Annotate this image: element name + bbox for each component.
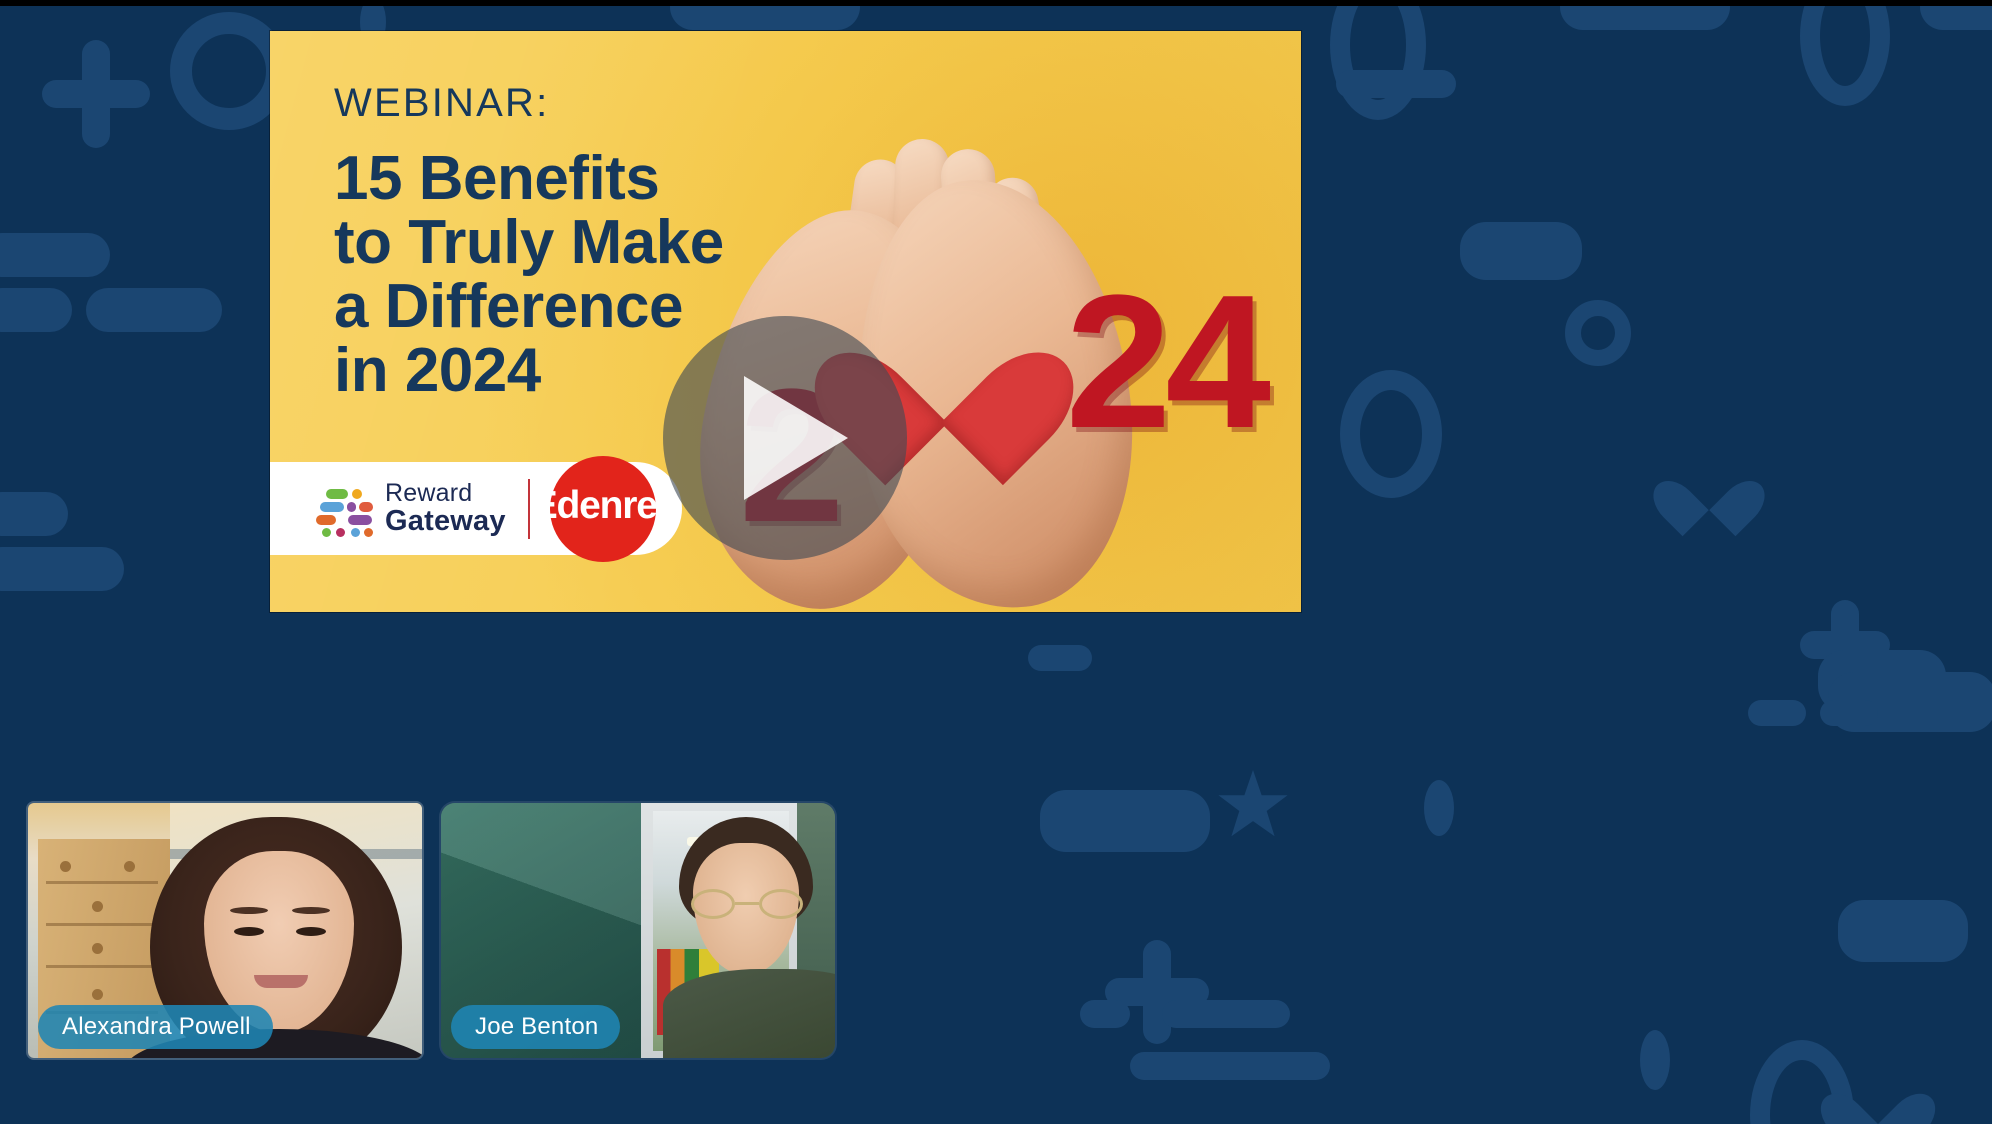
ring-decoration — [1750, 1040, 1854, 1124]
year-number-24: 24 — [1066, 267, 1265, 457]
reward-gateway-wordmark: Reward Gateway — [385, 481, 506, 536]
bar-decoration — [0, 288, 72, 332]
webinar-page: 24 2 WEBINAR: 15 Benefits to Truly Make … — [0, 0, 1992, 1124]
slide-eyebrow: WEBINAR: — [334, 83, 724, 123]
logo-divider — [528, 479, 530, 539]
oval-decoration — [1424, 780, 1454, 836]
bar-decoration — [1818, 650, 1946, 712]
bar-decoration — [0, 233, 110, 277]
bar-decoration — [1820, 700, 1878, 726]
star-decoration — [1217, 770, 1289, 842]
plus-decoration — [1105, 940, 1209, 1044]
participant-mouth — [254, 975, 308, 988]
bar-decoration — [86, 288, 222, 332]
heart-decoration — [1672, 456, 1746, 524]
bar-decoration — [1080, 1000, 1130, 1028]
heart-decoration — [1840, 1068, 1916, 1124]
plus-decoration — [1800, 600, 1890, 690]
ring-decoration — [1565, 300, 1631, 366]
bar-decoration — [1028, 645, 1092, 671]
oval-decoration — [1640, 1030, 1670, 1090]
bar-decoration — [1162, 1000, 1290, 1028]
slide-headline: 15 Benefits to Truly Make a Difference i… — [334, 147, 724, 402]
bar-decoration — [1460, 222, 1582, 280]
slide-text-block: WEBINAR: 15 Benefits to Truly Make a Dif… — [334, 83, 724, 402]
ring-decoration — [1340, 370, 1442, 498]
sponsor-logo-band: Reward Gateway Edenred — [270, 462, 682, 555]
reward-gateway-line-1: Reward — [385, 481, 506, 506]
top-letterbox-bar — [0, 0, 1992, 6]
ring-decoration — [1330, 0, 1426, 120]
headline-line-1: 15 Benefits — [334, 147, 724, 211]
reward-gateway-line-2: Gateway — [385, 507, 506, 536]
headline-line-4: in 2024 — [334, 339, 724, 403]
participant-name-badge: Joe Benton — [451, 1005, 620, 1049]
headline-line-3: a Difference — [334, 275, 724, 339]
play-button[interactable] — [663, 316, 907, 560]
bar-decoration — [1748, 700, 1806, 726]
participant-shirt — [663, 969, 835, 1058]
bar-decoration — [0, 492, 68, 536]
reward-gateway-mark-icon — [316, 487, 372, 531]
headline-line-2: to Truly Make — [334, 211, 724, 275]
participant-name-badge: Alexandra Powell — [38, 1005, 273, 1049]
edenred-logo: Edenred — [550, 456, 656, 562]
bar-decoration — [1838, 900, 1968, 962]
bar-decoration — [1336, 70, 1456, 98]
bar-decoration — [1040, 790, 1210, 852]
bar-decoration — [0, 547, 124, 591]
plus-decoration — [42, 40, 150, 148]
ring-decoration — [1800, 0, 1890, 106]
bar-decoration — [1130, 1052, 1330, 1080]
main-video-player[interactable]: 24 2 WEBINAR: 15 Benefits to Truly Make … — [270, 31, 1301, 612]
play-triangle-icon — [744, 376, 848, 500]
eyeglasses — [691, 889, 803, 919]
bar-decoration — [1828, 672, 1992, 732]
